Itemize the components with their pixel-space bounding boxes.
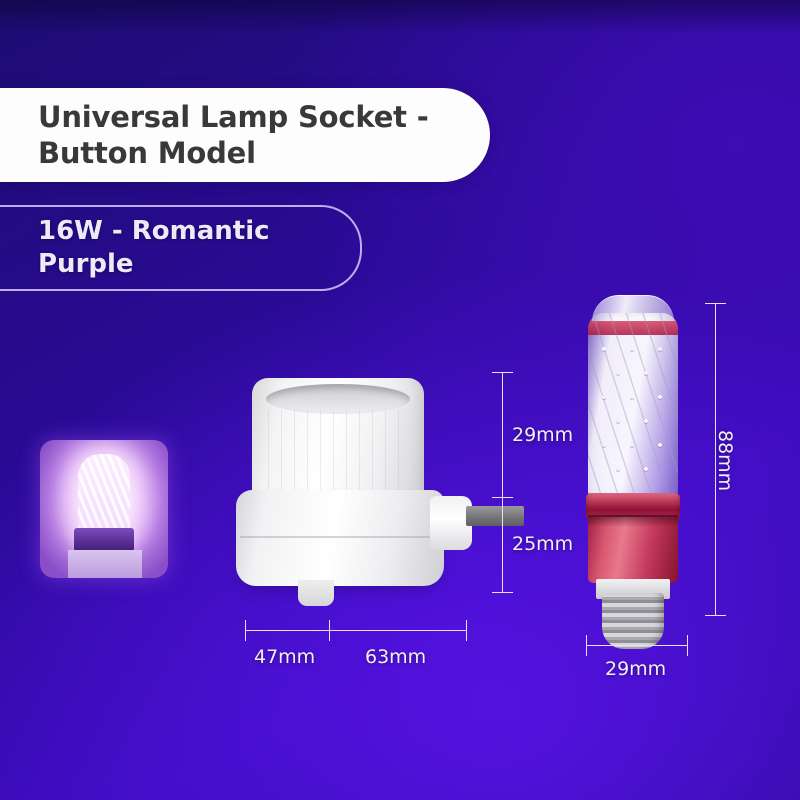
socket-width-left-label: 47mm (254, 646, 315, 668)
bulb-glass-cover (588, 313, 678, 499)
bulb-diameter-tick-left (586, 635, 587, 656)
bulb-e27-screw-base (602, 593, 664, 649)
socket-height-upper-label: 29mm (512, 424, 573, 446)
socket-vertical-dimension-line (502, 372, 503, 592)
bulb-diameter-label: 29mm (605, 658, 666, 680)
bulb-dimension-tick-bottom (705, 615, 726, 616)
product-variant-banner: 16W - Romantic Purple (0, 205, 362, 291)
socket-dimension-tick-mid (492, 497, 513, 498)
socket-horizontal-dimension-line (245, 630, 467, 631)
socket-dimension-tick-top (492, 372, 513, 373)
socket-width-tick-mid (329, 620, 330, 641)
product-image-canvas: Universal Lamp Socket - Button Model 16W… (0, 0, 800, 800)
thumbnail-socket-base (68, 550, 142, 578)
socket-plug-prong (466, 506, 524, 526)
socket-housing-body (236, 490, 444, 586)
socket-seam-line (240, 536, 440, 538)
bulb-horizontal-dimension-line (586, 645, 687, 646)
bulb-led-chips (592, 339, 674, 495)
bulb-diameter-tick-right (687, 635, 688, 656)
lamp-preview-thumbnail[interactable] (40, 440, 168, 578)
product-title-banner: Universal Lamp Socket - Button Model (0, 88, 490, 182)
variant-label: 16W - Romantic Purple (38, 215, 338, 280)
bulb-height-label: 88mm (714, 430, 736, 491)
page-title: Universal Lamp Socket - Button Model (38, 100, 468, 172)
led-bulb-product-photo (578, 295, 688, 621)
socket-height-lower-label: 25mm (512, 533, 573, 555)
thumbnail-bulb-collar (74, 528, 134, 552)
bulb-pink-housing (588, 517, 678, 583)
lamp-socket-product-photo (230, 368, 510, 618)
socket-width-tick-left (245, 620, 246, 641)
socket-power-button (298, 580, 334, 606)
socket-ridge-texture (268, 410, 408, 494)
top-vignette (0, 0, 800, 34)
thumbnail-bulb-glass (78, 454, 130, 532)
socket-width-right-label: 63mm (365, 646, 426, 668)
socket-dimension-tick-bottom (492, 592, 513, 593)
bulb-dimension-tick-top (705, 303, 726, 304)
socket-width-tick-right (466, 620, 467, 641)
